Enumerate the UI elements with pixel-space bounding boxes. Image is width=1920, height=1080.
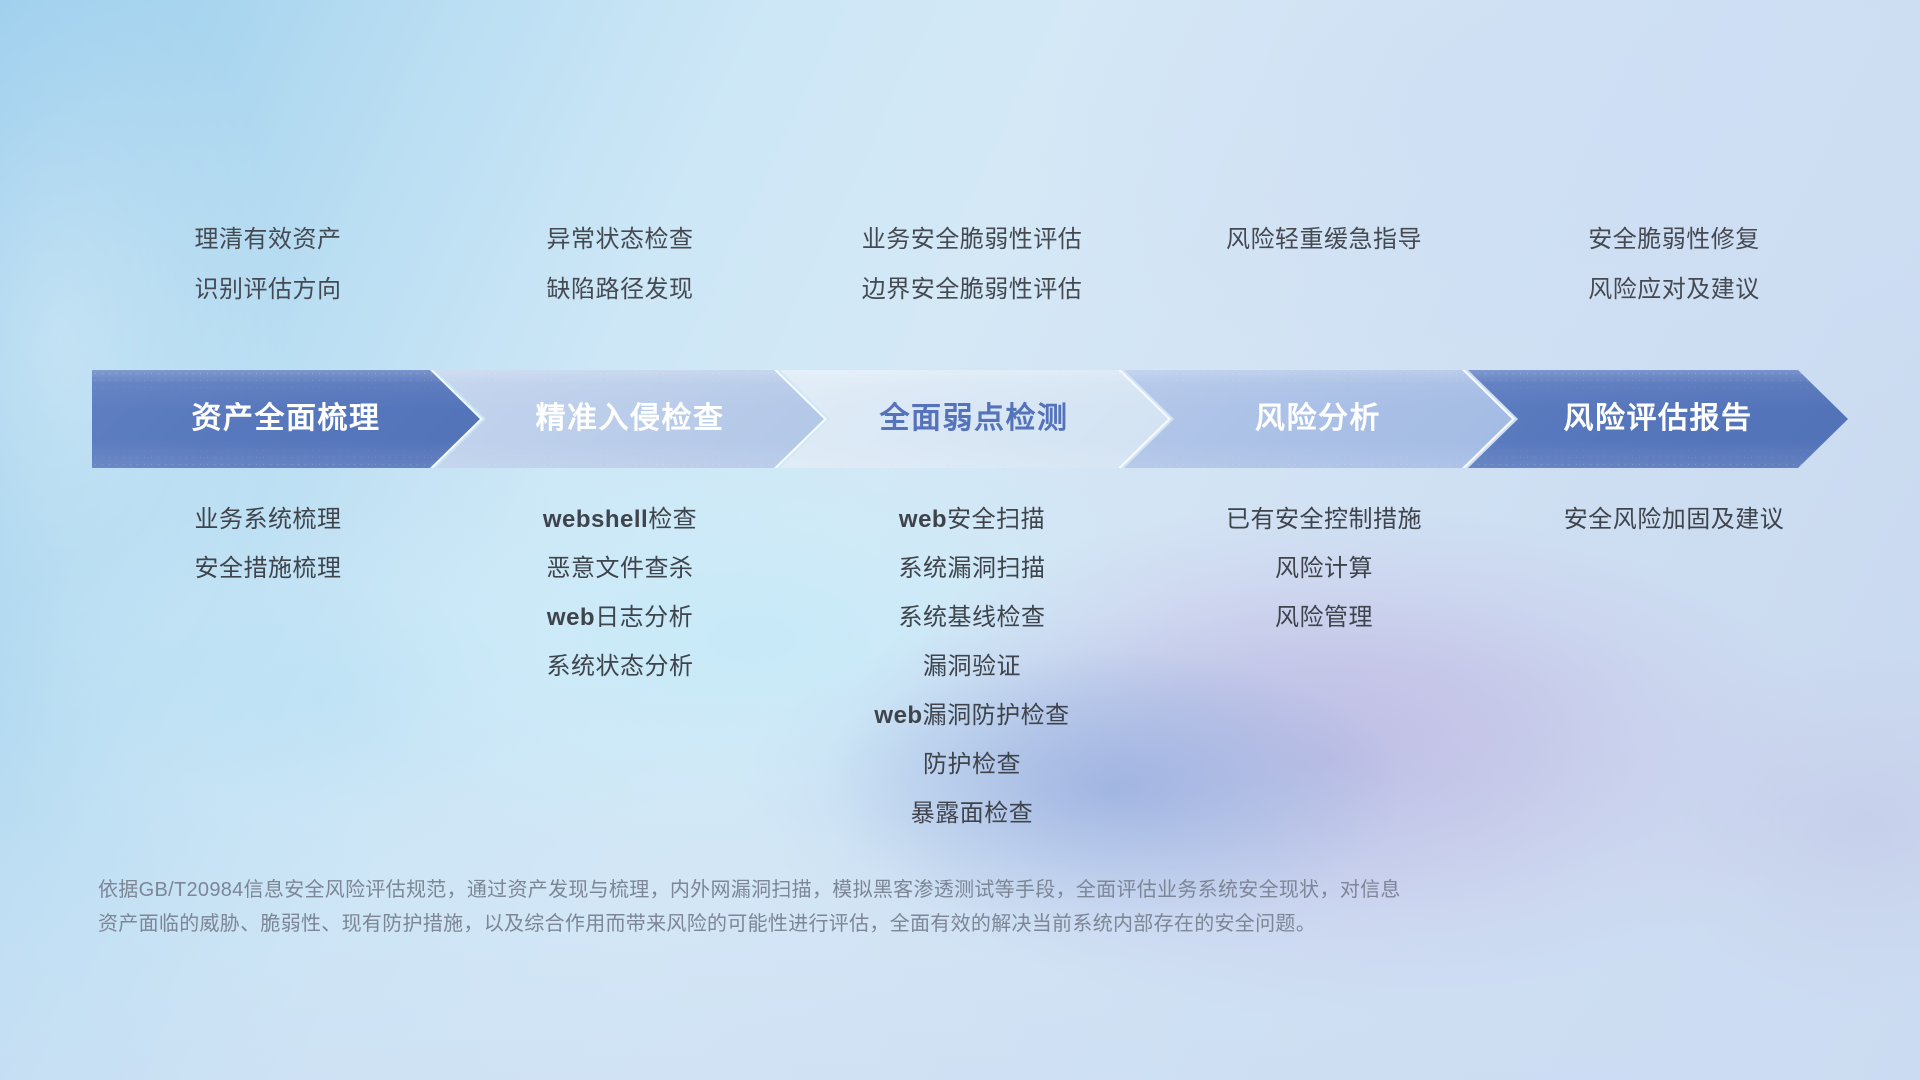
bottom-item: web漏洞防护检查 [874, 704, 1069, 728]
stage-arrow-risk-analysis[interactable]: 风险分析 [1124, 370, 1512, 468]
risk-assessment-process-slide: 理清有效资产 识别评估方向 异常状态检查 缺陷路径发现 业务安全脆弱性评估 边界… [0, 0, 1920, 1080]
stage-arrow-weakness-detection[interactable]: 全面弱点检测 [780, 370, 1168, 468]
bottom-item: 暴露面检查 [911, 802, 1034, 826]
top-column-asset-inventory: 理清有效资产 识别评估方向 [92, 228, 444, 302]
bottom-item: 恶意文件查杀 [547, 557, 694, 581]
bottom-item: webshell检查 [543, 508, 697, 532]
bottom-item: 防护检查 [923, 753, 1021, 777]
stage-arrow-intrusion-check[interactable]: 精准入侵检查 [436, 370, 824, 468]
stage-label: 资产全面梳理 [92, 404, 480, 434]
bottom-item: 风险计算 [1275, 557, 1373, 581]
bottom-item: 漏洞验证 [923, 655, 1021, 679]
top-column-risk-report: 安全脆弱性修复 风险应对及建议 [1500, 228, 1848, 302]
bottom-column-asset-inventory: 业务系统梳理 安全措施梳理 [92, 508, 444, 581]
top-item: 边界安全脆弱性评估 [862, 278, 1083, 302]
stage-label: 风险分析 [1124, 404, 1512, 434]
bottom-column-risk-analysis: 已有安全控制措施 风险计算 风险管理 [1148, 508, 1500, 630]
top-column-risk-analysis: 风险轻重缓急指导 [1148, 228, 1500, 302]
bottom-item: 安全风险加固及建议 [1564, 508, 1785, 532]
bottom-description-row: 业务系统梳理 安全措施梳理 webshell检查 恶意文件查杀 web日志分析 … [92, 508, 1848, 826]
bottom-column-intrusion-check: webshell检查 恶意文件查杀 web日志分析 系统状态分析 [444, 508, 796, 679]
top-column-weakness-detection: 业务安全脆弱性评估 边界安全脆弱性评估 [796, 228, 1148, 302]
process-arrow-banner: 资产全面梳理 精准入侵检查 全面弱点检测 风险分析 风险评估报告 [92, 370, 1848, 468]
top-column-intrusion-check: 异常状态检查 缺陷路径发现 [444, 228, 796, 302]
top-item: 缺陷路径发现 [547, 278, 694, 302]
stage-label: 精准入侵检查 [436, 404, 824, 434]
bottom-item: 风险管理 [1275, 606, 1373, 630]
footer-line: 资产面临的威胁、脆弱性、现有防护措施，以及综合作用而带来风险的可能性进行评估，全… [98, 907, 1728, 941]
bottom-item: 业务系统梳理 [195, 508, 342, 532]
bottom-column-weakness-detection: web安全扫描 系统漏洞扫描 系统基线检查 漏洞验证 web漏洞防护检查 防护检… [796, 508, 1148, 826]
bottom-item: 安全措施梳理 [195, 557, 342, 581]
bottom-item: 系统基线检查 [899, 606, 1046, 630]
bottom-item: 系统状态分析 [547, 655, 694, 679]
bottom-item: 系统漏洞扫描 [899, 557, 1046, 581]
top-item: 识别评估方向 [195, 278, 342, 302]
stage-arrow-risk-report[interactable]: 风险评估报告 [1468, 370, 1848, 468]
top-item: 安全脆弱性修复 [1588, 228, 1760, 252]
top-item: 理清有效资产 [195, 228, 342, 252]
stage-label: 全面弱点检测 [780, 404, 1168, 434]
top-item: 风险轻重缓急指导 [1226, 228, 1422, 252]
stage-label: 风险评估报告 [1468, 404, 1848, 434]
footer-line: 依据GB/T20984信息安全风险评估规范，通过资产发现与梳理，内外网漏洞扫描，… [98, 873, 1728, 907]
bottom-column-risk-report: 安全风险加固及建议 [1500, 508, 1848, 532]
stage-arrow-asset-inventory[interactable]: 资产全面梳理 [92, 370, 480, 468]
top-item: 业务安全脆弱性评估 [862, 228, 1083, 252]
top-item: 风险应对及建议 [1588, 278, 1760, 302]
bottom-item: web日志分析 [547, 606, 693, 630]
top-item: 异常状态检查 [547, 228, 694, 252]
footer-description: 依据GB/T20984信息安全风险评估规范，通过资产发现与梳理，内外网漏洞扫描，… [98, 873, 1728, 941]
top-description-row: 理清有效资产 识别评估方向 异常状态检查 缺陷路径发现 业务安全脆弱性评估 边界… [92, 228, 1848, 302]
bottom-item: web安全扫描 [899, 508, 1045, 532]
bottom-item: 已有安全控制措施 [1226, 508, 1422, 532]
